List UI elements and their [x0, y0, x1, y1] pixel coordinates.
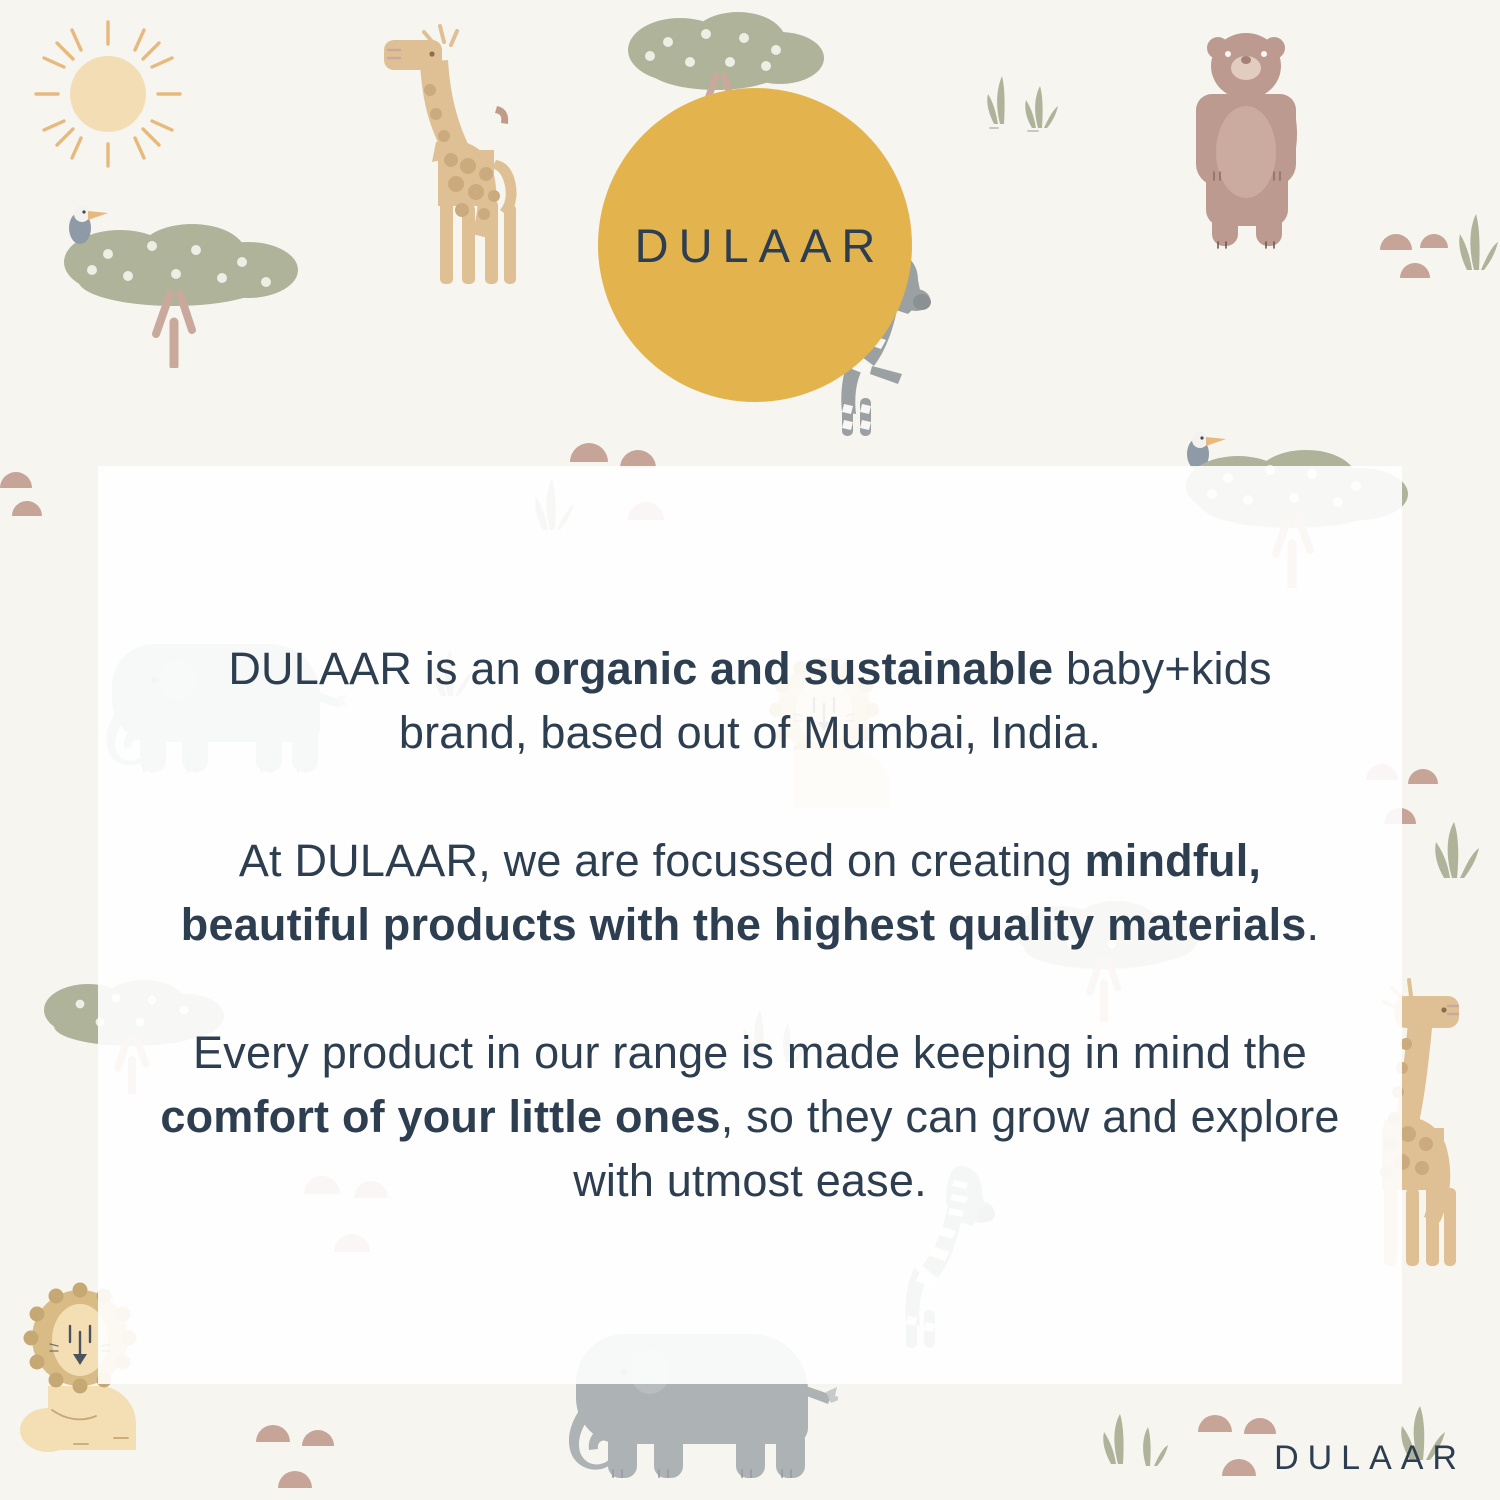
logo-wordmark: DULAAR — [625, 218, 886, 273]
footer-wordmark: DULAAR — [1265, 1439, 1466, 1478]
poster-canvas: DULAAR DULAAR is an organic and sustaina… — [0, 0, 1500, 1500]
about-text-block: DULAAR is an organic and sustainable bab… — [98, 466, 1402, 1384]
giraffe-icon — [352, 18, 520, 318]
toucan-icon — [64, 198, 110, 248]
sun-icon — [28, 14, 188, 174]
grass-tuft-icon — [1430, 812, 1500, 884]
grass-tuft-icon — [1098, 1404, 1176, 1470]
paragraph-comfort: Every product in our range is made keepi… — [160, 1021, 1340, 1213]
grass-tuft-icon — [984, 66, 1074, 132]
grass-tuft-icon — [1456, 204, 1500, 276]
rock-cluster-icon — [0, 462, 64, 520]
rock-cluster-icon — [1378, 222, 1456, 282]
bear-icon — [1196, 22, 1298, 250]
rock-cluster-icon — [254, 1414, 344, 1492]
paragraph-intro: DULAAR is an organic and sustainable bab… — [160, 637, 1340, 765]
paragraph-focus: At DULAAR, we are focussed on creating m… — [160, 829, 1340, 957]
brand-logo-badge: DULAAR — [598, 88, 912, 402]
